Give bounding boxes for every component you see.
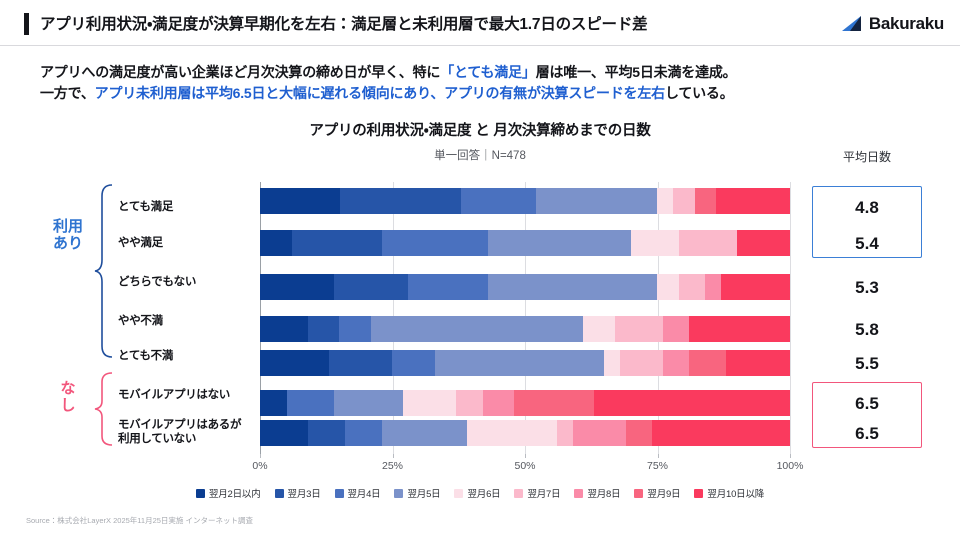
legend-item[interactable]: 翌月3日 xyxy=(275,486,321,500)
category-label-line: モバイルアプリはない xyxy=(118,388,253,402)
slide-root: アプリ利用状況・満足度が決算早期化を左右：満足層と未利用層で最大1.7日のスピー… xyxy=(0,0,960,540)
stacked-bar-plot: 0%25%50%75%100% xyxy=(260,182,790,454)
avg-days-value: 5.8 xyxy=(812,320,922,340)
lead-line-2-part-a: 一方で、 xyxy=(40,85,95,101)
legend-label: 翌月2日以内 xyxy=(209,486,261,500)
category-label-line: やや不満 xyxy=(118,314,253,328)
bar-segment[interactable] xyxy=(483,390,515,416)
bar-row[interactable] xyxy=(260,316,790,342)
bar-segment[interactable] xyxy=(583,316,615,342)
bar-row[interactable] xyxy=(260,274,790,300)
legend-item[interactable]: 翌月10日以降 xyxy=(694,486,764,500)
lead-line-2-part-b: している。 xyxy=(665,85,734,101)
lead-line-2: 一方で、アプリ未利用層は平均6.5日と大幅に遅れる傾向にあり、アプリの有無が決算… xyxy=(40,83,940,104)
x-axis-label-50: 50% xyxy=(514,460,535,472)
chart-subtitle: 単一回答｜N=478 xyxy=(200,147,760,163)
avg-days-value: 6.5 xyxy=(812,424,922,444)
legend-label: 翌月9日 xyxy=(647,486,680,500)
category-label: モバイルアプリはない xyxy=(118,388,253,402)
lead-line-1-part-a: アプリへの満足度が高い企業ほど月次決算の締め日が早く、特に xyxy=(40,64,440,80)
legend-swatch-icon xyxy=(514,489,523,498)
bar-segment[interactable] xyxy=(663,316,690,342)
page-title: アプリ利用状況・満足度が決算早期化を左右：満足層と未利用層で最大1.7日のスピー… xyxy=(40,12,647,34)
bar-segment[interactable] xyxy=(392,350,434,376)
group-label-none-line1: な xyxy=(46,380,90,397)
bar-segment[interactable] xyxy=(260,390,287,416)
bar-row[interactable] xyxy=(260,420,790,446)
avg-days-value: 4.8 xyxy=(812,198,922,218)
x-tick-50 xyxy=(525,454,526,458)
bar-segment[interactable] xyxy=(716,188,790,214)
bar-segment[interactable] xyxy=(514,390,594,416)
lead-line-1-highlight: 「とても満足」 xyxy=(440,64,535,80)
bar-segment[interactable] xyxy=(435,350,605,376)
x-axis-label-0: 0% xyxy=(252,460,267,472)
lead-line-1: アプリへの満足度が高い企業ほど月次決算の締め日が早く、特に「とても満足」層は唯一… xyxy=(40,62,940,83)
legend-swatch-icon xyxy=(275,489,284,498)
slide-header: アプリ利用状況・満足度が決算早期化を左右：満足層と未利用層で最大1.7日のスピー… xyxy=(0,0,960,46)
bar-segment[interactable] xyxy=(615,316,663,342)
bar-segment[interactable] xyxy=(382,230,488,256)
category-label-line: とても満足 xyxy=(118,200,253,214)
category-label-line: とても不満 xyxy=(118,349,253,363)
lead-paragraph: アプリへの満足度が高い企業ほど月次決算の締め日が早く、特に「とても満足」層は唯一… xyxy=(40,62,940,104)
bar-segment[interactable] xyxy=(308,316,340,342)
legend-swatch-icon xyxy=(196,489,205,498)
bar-segment[interactable] xyxy=(631,230,679,256)
bar-segment[interactable] xyxy=(679,230,737,256)
bar-row[interactable] xyxy=(260,390,790,416)
x-axis-label-75: 75% xyxy=(647,460,668,472)
bar-segment[interactable] xyxy=(689,350,726,376)
bar-segment[interactable] xyxy=(536,188,658,214)
legend-swatch-icon xyxy=(694,489,703,498)
bar-segment[interactable] xyxy=(334,390,403,416)
category-label: どちらでもない xyxy=(118,275,253,289)
group-label-none: な し xyxy=(46,380,90,414)
category-label: やや不満 xyxy=(118,314,253,328)
bar-segment[interactable] xyxy=(695,188,716,214)
bar-segment[interactable] xyxy=(679,274,706,300)
bar-segment[interactable] xyxy=(260,230,292,256)
x-tick-100 xyxy=(790,454,791,458)
category-label: モバイルアプリはあるが利用していない xyxy=(118,418,253,446)
bar-segment[interactable] xyxy=(652,420,790,446)
legend-swatch-icon xyxy=(394,489,403,498)
legend-label: 翌月10日以降 xyxy=(707,486,764,500)
legend-swatch-icon xyxy=(634,489,643,498)
bar-segment[interactable] xyxy=(626,420,653,446)
bar-segment[interactable] xyxy=(345,420,382,446)
legend-item[interactable]: 翌月8日 xyxy=(574,486,620,500)
bar-segment[interactable] xyxy=(737,230,790,256)
category-label-line: モバイルアプリはあるが xyxy=(118,418,253,432)
bar-segment[interactable] xyxy=(657,188,673,214)
bar-segment[interactable] xyxy=(329,350,393,376)
group-label-usage-line1: 利用 xyxy=(46,218,90,235)
legend-label: 翌月8日 xyxy=(587,486,620,500)
bar-segment[interactable] xyxy=(620,350,662,376)
legend-item[interactable]: 翌月4日 xyxy=(335,486,381,500)
group-label-usage: 利用 あり xyxy=(46,218,90,252)
x-axis-label-25: 25% xyxy=(382,460,403,472)
legend-swatch-icon xyxy=(574,489,583,498)
lead-line-1-part-b: 層は唯一、平均5日未満を達成。 xyxy=(536,64,737,80)
bar-segment[interactable] xyxy=(339,316,371,342)
avg-days-value: 5.3 xyxy=(812,278,922,298)
legend-item[interactable]: 翌月2日以内 xyxy=(196,486,261,500)
bar-segment[interactable] xyxy=(260,420,308,446)
gridline-100 xyxy=(790,182,791,454)
group-brace-none xyxy=(92,370,116,448)
bar-segment[interactable] xyxy=(371,316,583,342)
legend-item[interactable]: 翌月9日 xyxy=(634,486,680,500)
bar-row[interactable] xyxy=(260,188,790,214)
bar-row[interactable] xyxy=(260,350,790,376)
bar-segment[interactable] xyxy=(663,350,690,376)
bar-segment[interactable] xyxy=(705,274,721,300)
bar-segment[interactable] xyxy=(689,316,790,342)
bar-segment[interactable] xyxy=(382,420,467,446)
legend-swatch-icon xyxy=(454,489,463,498)
title-accent-bar xyxy=(24,13,29,35)
x-tick-0 xyxy=(260,454,261,458)
bar-segment[interactable] xyxy=(721,274,790,300)
legend-item[interactable]: 翌月5日 xyxy=(394,486,440,500)
bar-segment[interactable] xyxy=(292,230,382,256)
bar-segment[interactable] xyxy=(287,390,335,416)
group-brace-usage xyxy=(92,182,116,362)
legend-item[interactable]: 翌月7日 xyxy=(514,486,560,500)
avg-days-value: 5.4 xyxy=(812,234,922,254)
category-label: とても満足 xyxy=(118,200,253,214)
legend-label: 翌月6日 xyxy=(467,486,500,500)
category-label-line: どちらでもない xyxy=(118,275,253,289)
category-label-line: 利用していない xyxy=(118,432,253,446)
chart-legend: 翌月2日以内翌月3日翌月4日翌月5日翌月6日翌月7日翌月8日翌月9日翌月10日以… xyxy=(0,486,960,500)
legend-swatch-icon xyxy=(335,489,344,498)
x-tick-25 xyxy=(393,454,394,458)
bar-segment[interactable] xyxy=(488,230,631,256)
legend-label: 翌月5日 xyxy=(407,486,440,500)
legend-item[interactable]: 翌月6日 xyxy=(454,486,500,500)
brand-logo-text: Bakuraku xyxy=(869,14,944,34)
bar-segment[interactable] xyxy=(604,350,620,376)
bar-row[interactable] xyxy=(260,230,790,256)
bar-segment[interactable] xyxy=(260,350,329,376)
bar-segment[interactable] xyxy=(657,274,678,300)
bar-segment[interactable] xyxy=(260,316,308,342)
bar-segment[interactable] xyxy=(408,274,488,300)
category-label-line: やや満足 xyxy=(118,236,253,250)
x-axis-label-100: 100% xyxy=(777,460,804,472)
bar-segment[interactable] xyxy=(308,420,345,446)
legend-label: 翌月7日 xyxy=(527,486,560,500)
bar-segment[interactable] xyxy=(467,420,557,446)
avg-days-column-header: 平均日数 xyxy=(812,148,922,165)
bar-segment[interactable] xyxy=(557,420,573,446)
avg-days-value: 6.5 xyxy=(812,394,922,414)
bar-segment[interactable] xyxy=(403,390,456,416)
legend-label: 翌月4日 xyxy=(348,486,381,500)
source-note: Source：株式会社LayerX 2025年11月25日実施 インターネット調… xyxy=(26,515,253,526)
bar-segment[interactable] xyxy=(461,188,535,214)
bar-segment[interactable] xyxy=(340,188,462,214)
group-label-usage-line2: あり xyxy=(46,235,90,252)
bar-segment[interactable] xyxy=(488,274,658,300)
lead-line-2-highlight: アプリ未利用層は平均6.5日と大幅に遅れる傾向にあり、アプリの有無が決算スピード… xyxy=(95,85,665,101)
bar-segment[interactable] xyxy=(594,390,790,416)
bar-segment[interactable] xyxy=(726,350,790,376)
x-tick-75 xyxy=(658,454,659,458)
bar-segment[interactable] xyxy=(673,188,694,214)
bar-segment[interactable] xyxy=(260,188,340,214)
header-divider xyxy=(0,45,960,46)
category-label: やや満足 xyxy=(118,236,253,250)
bar-segment[interactable] xyxy=(334,274,408,300)
brand-logo: Bakuraku xyxy=(842,13,944,35)
group-label-none-line2: し xyxy=(46,397,90,414)
chart-title: アプリの利用状況・満足度 と 月次決算締めまでの日数 xyxy=(200,119,760,140)
bakuraku-triangle-logo-icon xyxy=(842,15,864,33)
bar-segment[interactable] xyxy=(260,274,334,300)
bar-segment[interactable] xyxy=(573,420,626,446)
legend-label: 翌月3日 xyxy=(288,486,321,500)
avg-days-value: 5.5 xyxy=(812,354,922,374)
category-label: とても不満 xyxy=(118,349,253,363)
bar-segment[interactable] xyxy=(456,390,483,416)
